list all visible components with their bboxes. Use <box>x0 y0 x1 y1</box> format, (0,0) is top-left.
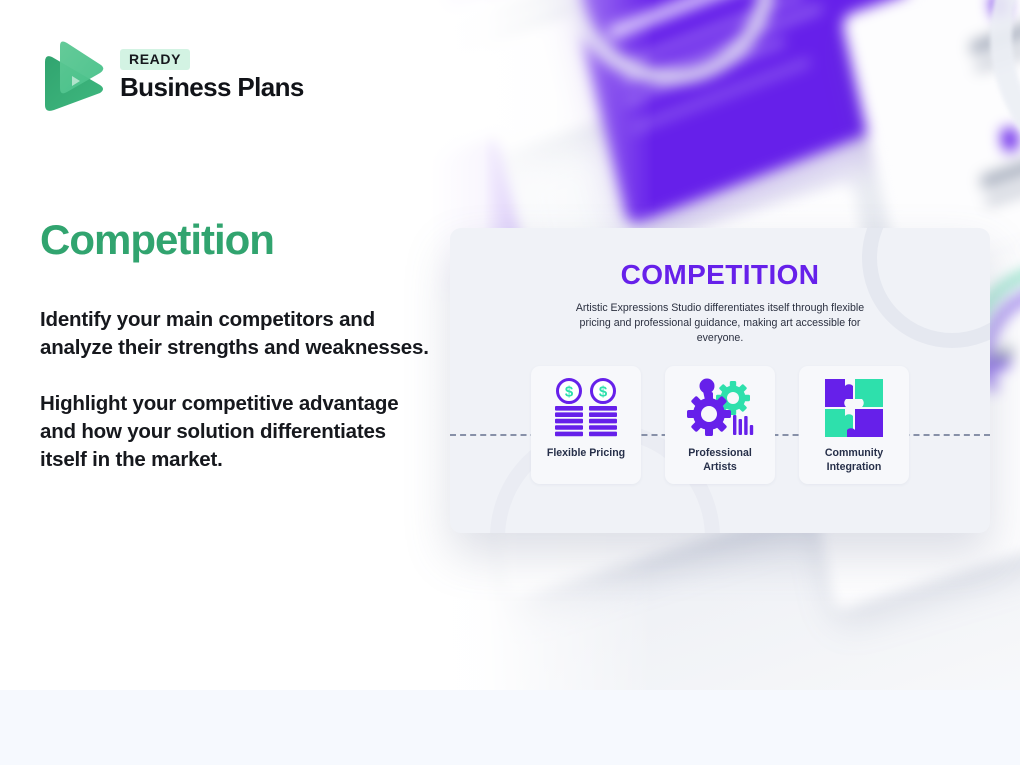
slide-preview-card[interactable]: COMPETITION Artistic Expressions Studio … <box>450 228 990 533</box>
feature-card-flexible-pricing[interactable]: $ $ <box>531 366 641 484</box>
slide-preview-page: READY Business Plans Competition Identif… <box>0 0 1020 765</box>
play-triangle-logo-icon <box>40 40 106 112</box>
feature-card-professional-artists[interactable]: Professional Artists <box>665 366 775 484</box>
page-title: Competition <box>40 217 274 263</box>
feature-label: Community Integration <box>805 447 903 475</box>
svg-text:$: $ <box>565 384 574 401</box>
brand-logo[interactable]: READY Business Plans <box>40 40 304 112</box>
brand-text: READY Business Plans <box>120 49 304 102</box>
gears-lightbulb-chart-icon <box>683 376 757 440</box>
ready-badge: READY <box>120 49 190 70</box>
feature-label: Professional Artists <box>671 447 769 475</box>
bottom-band <box>0 690 1020 765</box>
body-paragraph-2: Highlight your competitive advantage and… <box>40 390 430 475</box>
coin-stacks-icon: $ $ <box>549 376 623 440</box>
puzzle-pieces-icon <box>823 376 885 440</box>
slide-card-title: COMPETITION <box>450 259 990 291</box>
brand-name: Business Plans <box>120 73 304 102</box>
body-paragraph-1: Identify your main competitors and analy… <box>40 306 430 363</box>
body-copy: Identify your main competitors and analy… <box>40 306 430 474</box>
svg-text:$: $ <box>599 384 608 401</box>
feature-list: $ $ <box>450 366 990 484</box>
feature-label: Flexible Pricing <box>547 447 625 461</box>
slide-card-subtitle: Artistic Expressions Studio differentiat… <box>570 301 870 346</box>
feature-card-community-integration[interactable]: Community Integration <box>799 366 909 484</box>
